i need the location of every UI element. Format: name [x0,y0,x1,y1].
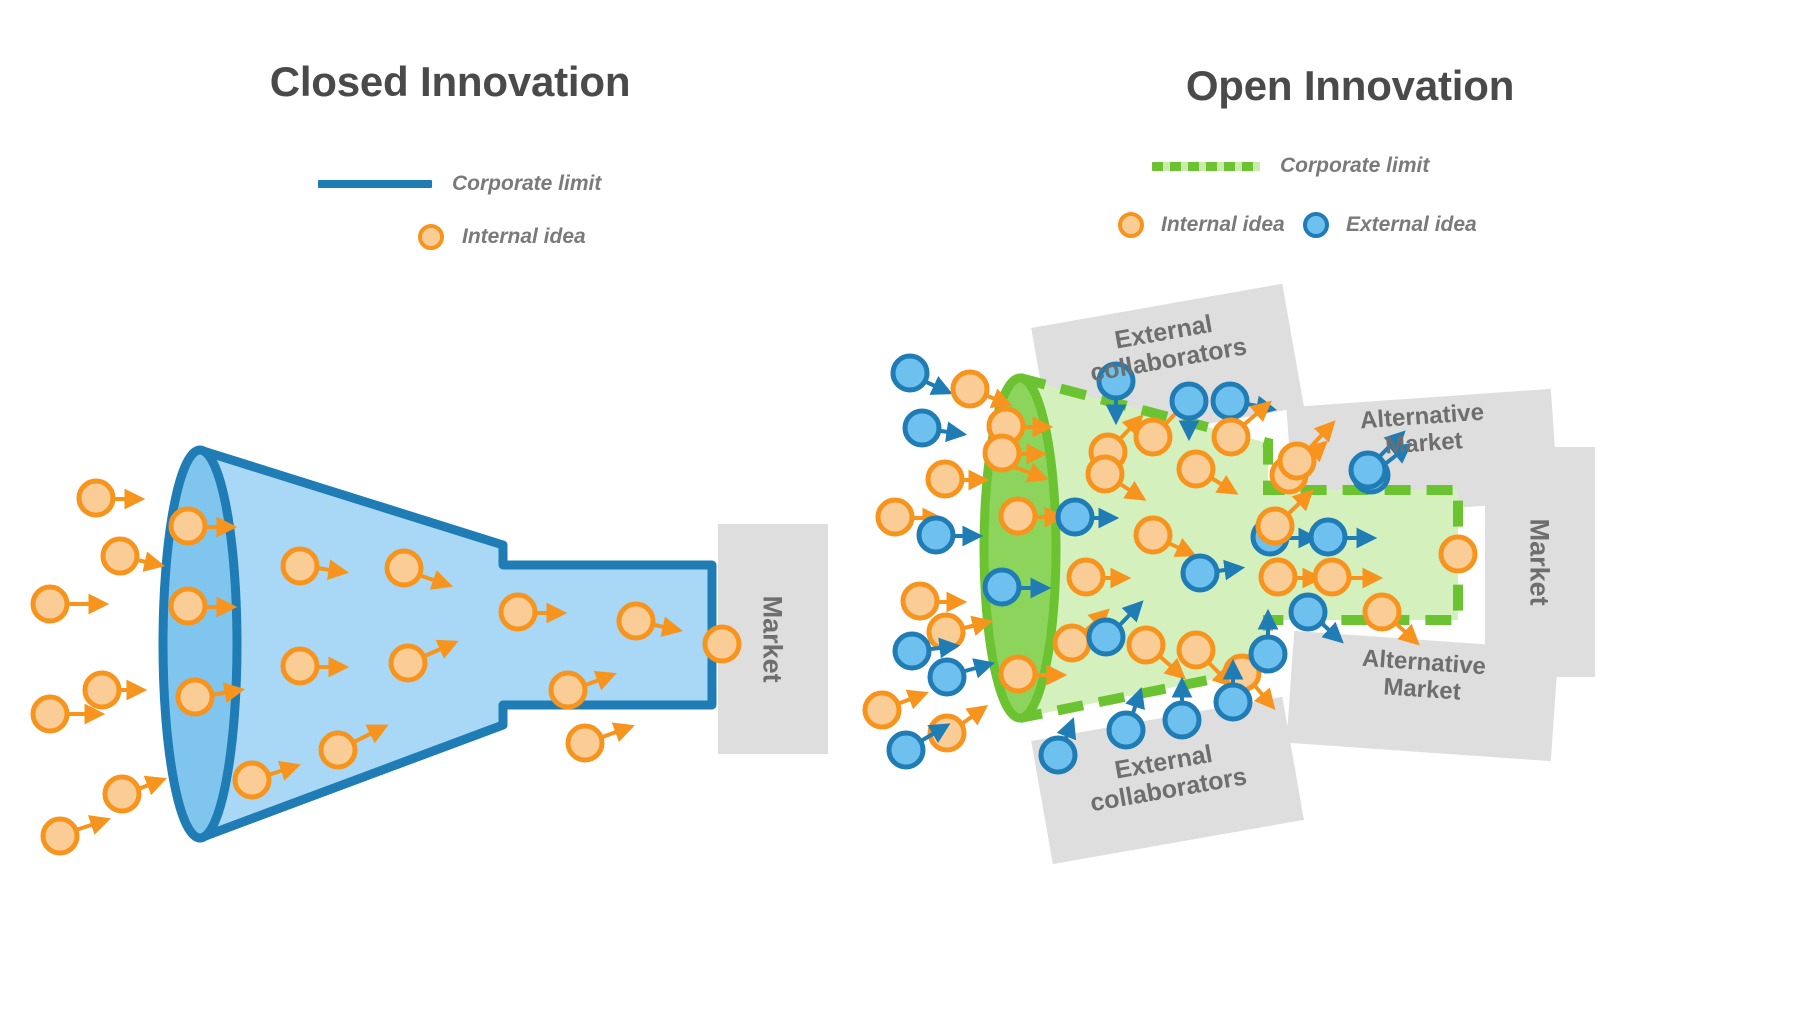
idea-internal [929,615,988,649]
idea-internal [903,584,962,618]
idea-internal [105,777,162,811]
idea-internal [865,693,924,727]
idea-internal [43,819,106,853]
open-funnel-scene [900,0,1800,1012]
idea-internal [1441,537,1475,571]
idea-internal [953,372,1008,406]
idea-internal [103,539,160,573]
idea-internal [85,673,142,707]
idea-internal [33,587,104,621]
panel-open-innovation: Open Innovation Corporate limit Internal… [900,0,1800,1012]
idea-external [905,411,962,445]
idea-internal [568,726,630,760]
idea-internal [928,462,984,496]
idea-external [1165,682,1199,737]
idea-external [893,356,948,392]
closed-funnel-scene [0,0,900,1012]
idea-external [930,660,990,694]
closed-ideas-outside [33,481,162,853]
panel-closed-innovation: Closed Innovation Corporate limit Intern… [0,0,900,1012]
market-label-open: Market [1485,447,1595,677]
idea-internal [79,481,140,515]
idea-external [919,518,978,552]
diagram-canvas: Closed Innovation Corporate limit Intern… [0,0,1800,1012]
market-label-closed: Market [718,524,828,754]
